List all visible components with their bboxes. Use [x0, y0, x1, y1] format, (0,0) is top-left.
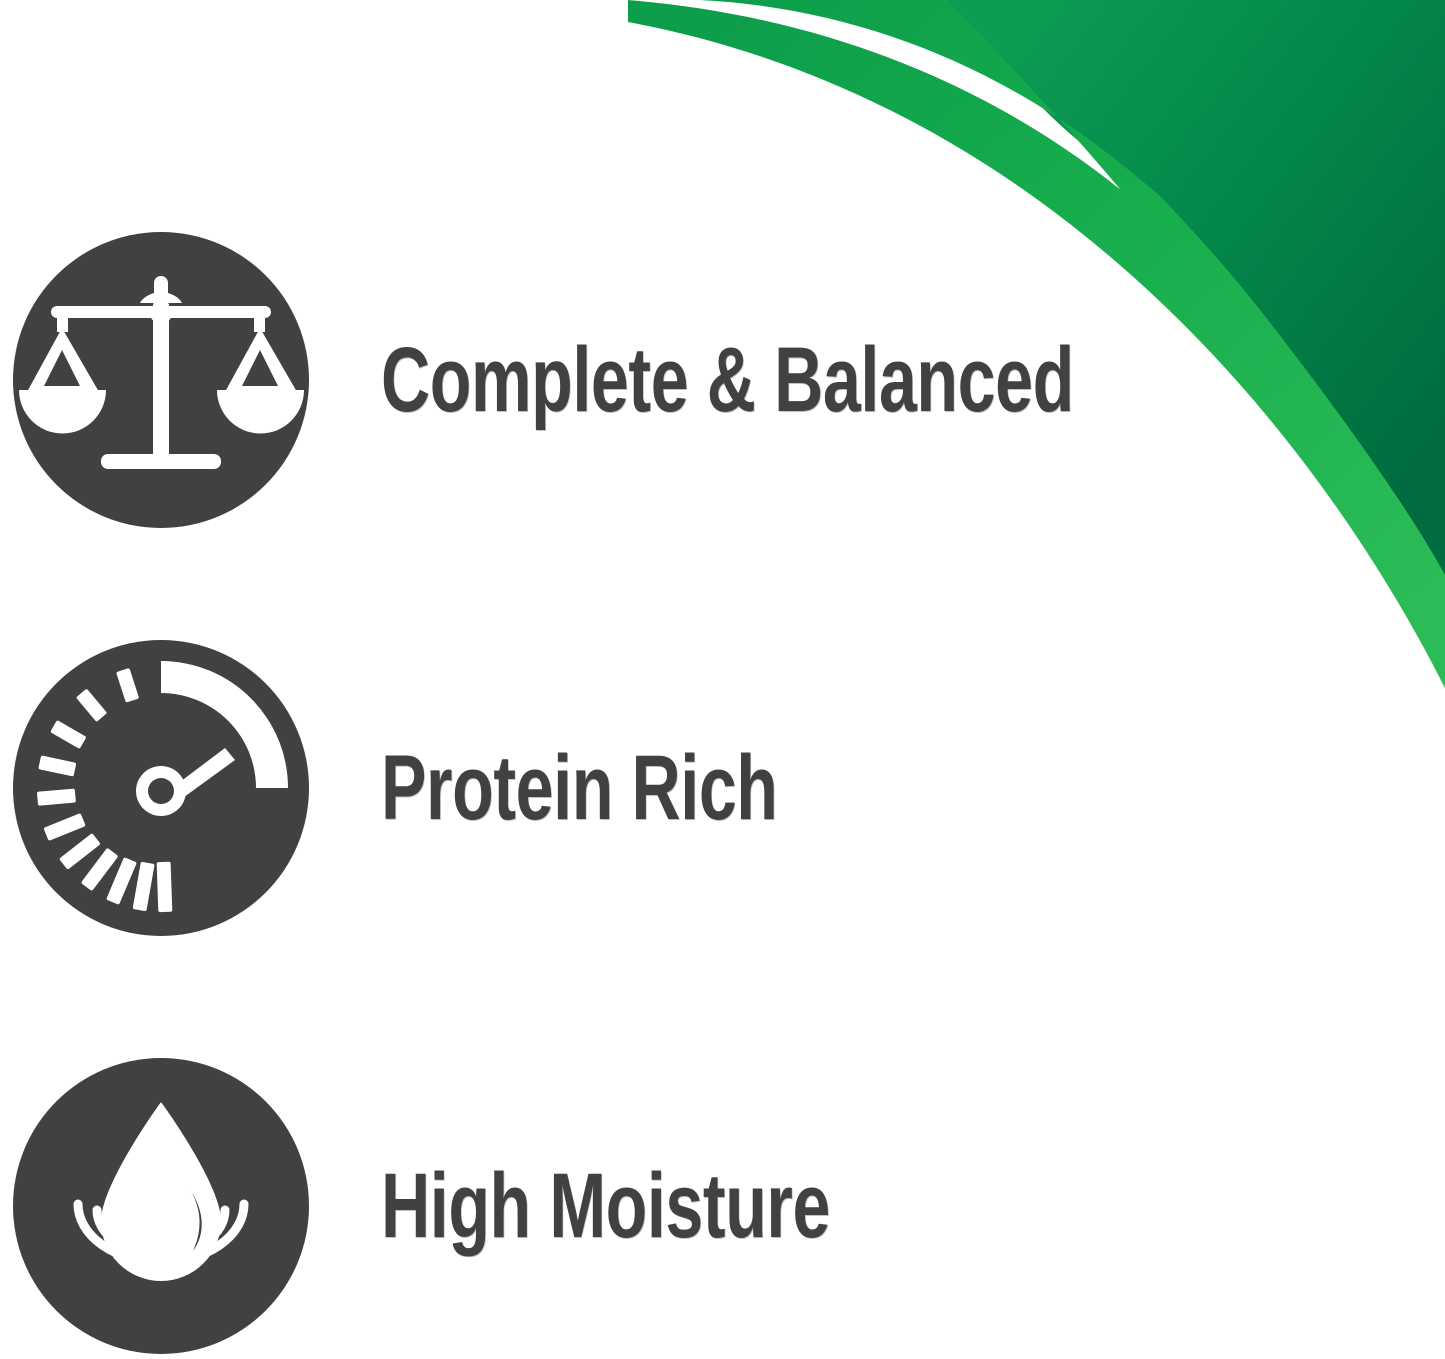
feature-row: High Moisture	[0, 1056, 1445, 1356]
feature-row: Complete & Balanced	[0, 230, 1445, 530]
balance-scale-badge	[13, 232, 309, 528]
gauge-hub-inner	[148, 778, 174, 804]
feature-label-complete-balanced: Complete & Balanced	[381, 334, 1168, 426]
feature-row: Protein Rich	[0, 638, 1445, 938]
feature-label-protein-rich: Protein Rich	[381, 742, 1168, 834]
water-drop-badge	[13, 1058, 309, 1354]
feature-label-high-moisture: High Moisture	[381, 1160, 1168, 1252]
product-feature-panel: Complete & Balanced	[0, 0, 1445, 1359]
gauge-meter-badge	[13, 640, 309, 936]
